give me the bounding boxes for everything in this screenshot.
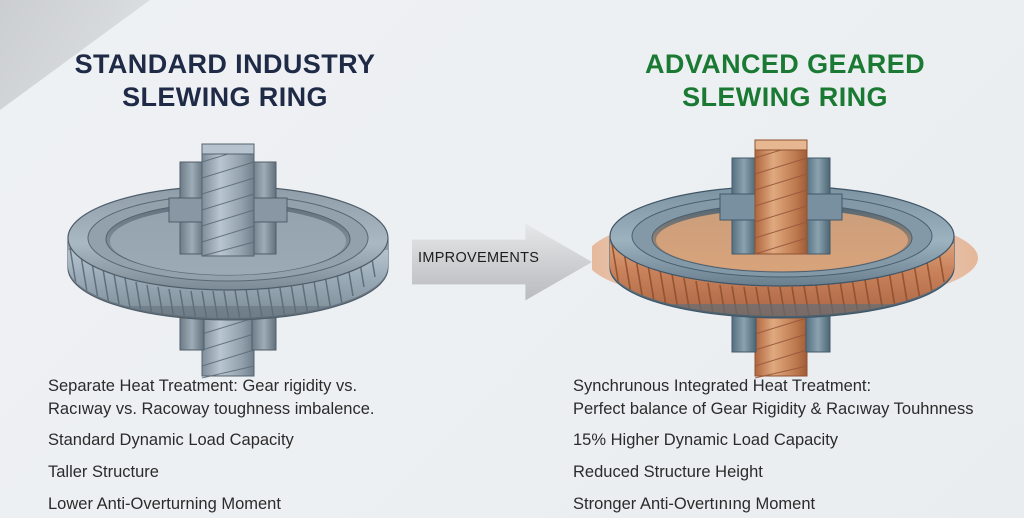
upper-pinion-shaft	[720, 140, 842, 254]
list-item: Reduced Structure Height	[573, 461, 1003, 484]
title-right-line2: SLEWING RING	[590, 81, 980, 114]
list-item: Lower Anti-Overturning Moment	[48, 493, 448, 516]
list-item: Stronger Anti-Overtınıng Moment	[573, 493, 1003, 516]
list-item: Synchrunous Integrated Heat Treatment: P…	[573, 375, 1003, 421]
title-left-line1: STANDARD INDUSTRY	[40, 48, 410, 81]
title-right-line1: ADVANCED GEARED	[590, 48, 980, 81]
improvements-arrow: IMPROVEMENTS	[412, 222, 592, 302]
slide-canvas: STANDARD INDUSTRY SLEWING RING ADVANCED …	[0, 0, 1024, 518]
list-item: Separate Heat Treatment: Gear rigidity v…	[48, 375, 448, 421]
page-title-right: ADVANCED GEARED SLEWING RING	[590, 48, 980, 114]
upper-pinion-shaft	[169, 144, 287, 256]
list-item: 15% Higher Dynamic Load Capacity	[573, 429, 1003, 452]
list-item-line: Perfect balance of Gear Rigidity & Racıw…	[573, 398, 1003, 421]
page-title-left: STANDARD INDUSTRY SLEWING RING	[40, 48, 410, 114]
left-feature-list: Separate Heat Treatment: Gear rigidity v…	[48, 375, 448, 518]
list-item-line: Racıway vs. Racoway toughness imbalence.	[48, 398, 448, 421]
arrow-label: IMPROVEMENTS	[418, 250, 530, 266]
advanced-slewing-ring-illustration	[592, 138, 982, 382]
list-item-line: Separate Heat Treatment: Gear rigidity v…	[48, 375, 448, 398]
list-item: Standard Dynamic Load Capacity	[48, 429, 448, 452]
standard-slewing-ring-illustration	[52, 140, 404, 380]
right-feature-list: Synchrunous Integrated Heat Treatment: P…	[573, 375, 1003, 518]
list-item: Taller Structure	[48, 461, 448, 484]
title-left-line2: SLEWING RING	[40, 81, 410, 114]
list-item-line: Synchrunous Integrated Heat Treatment:	[573, 375, 1003, 398]
